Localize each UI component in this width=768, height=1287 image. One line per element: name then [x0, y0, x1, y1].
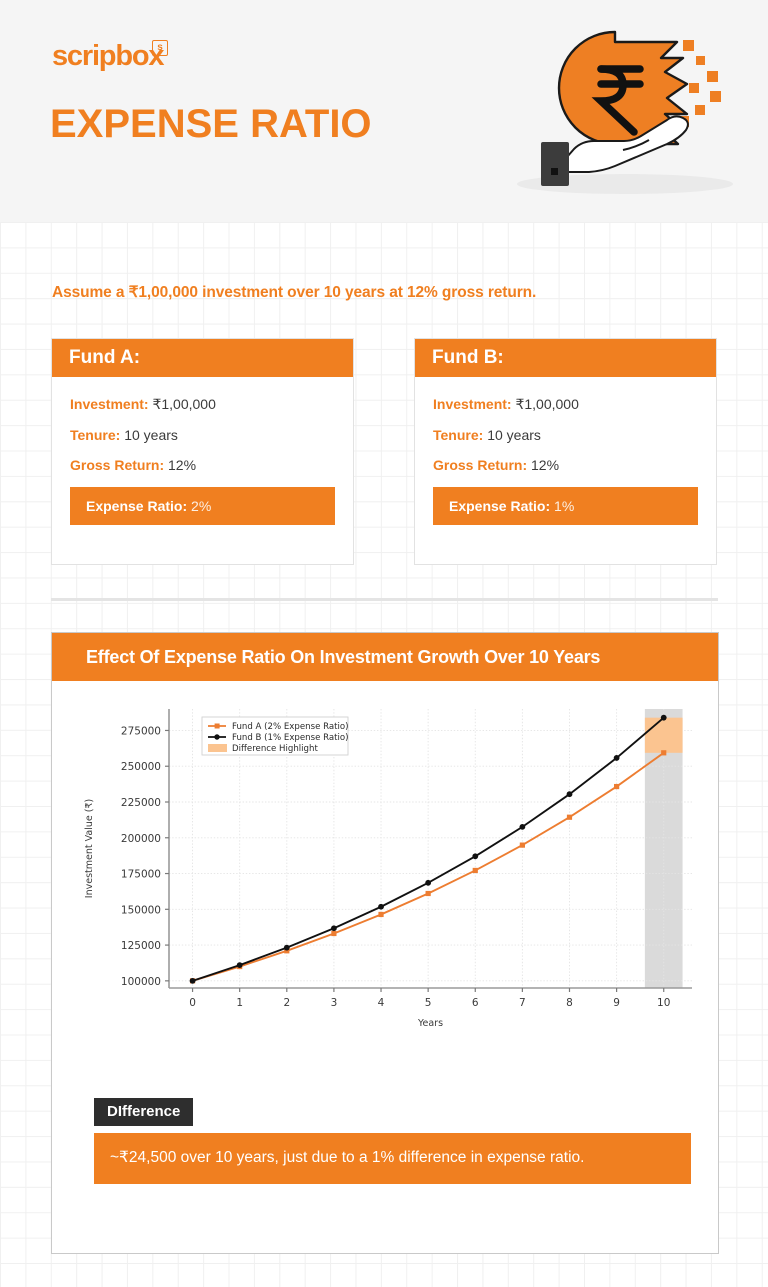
- y-tick-label-4: 200000: [121, 833, 161, 845]
- x-tick-label-10: 10: [657, 997, 670, 1009]
- fund-b-tenure-label: Tenure:: [433, 427, 483, 443]
- fund-a-expense-ratio-value: 2%: [191, 498, 211, 514]
- chart-legend: Fund A (2% Expense Ratio)Fund B (1% Expe…: [202, 717, 349, 755]
- y-tick-label-1: 125000: [121, 940, 161, 952]
- fund-b-gross-return-row: Gross Return: 12%: [433, 457, 698, 473]
- datapoint-fund-a-year-10: [661, 750, 666, 755]
- x-tick-label-0: 0: [189, 997, 196, 1009]
- chart-title: Effect Of Expense Ratio On Investment Gr…: [52, 633, 718, 681]
- x-tick-label-7: 7: [519, 997, 526, 1009]
- x-tick-label-3: 3: [331, 997, 338, 1009]
- datapoint-fund-b-year-0: [190, 978, 196, 984]
- legend-patch-difference: [208, 744, 227, 752]
- difference-text: ~₹24,500 over 10 years, just due to a 1%…: [94, 1133, 691, 1184]
- assumption-text: Assume a ₹1,00,000 investment over 10 ye…: [52, 283, 536, 302]
- fund-a-gross-return-value: 12%: [168, 457, 196, 473]
- fund-b-title: Fund B:: [415, 339, 716, 377]
- x-tick-label-6: 6: [472, 997, 479, 1009]
- legend-marker-0: [215, 724, 220, 729]
- investment-growth-line-chart: 1000001250001500001750002000002250002500…: [52, 681, 720, 1051]
- datapoint-fund-b-year-6: [472, 853, 478, 859]
- fund-b-expense-ratio-label: Expense Ratio:: [449, 498, 550, 514]
- fund-b-gross-return-label: Gross Return:: [433, 457, 527, 473]
- fund-b-card: Fund B: Investment: ₹1,00,000 Tenure: 10…: [414, 338, 717, 565]
- page-header: scripbox s EXPENSE RATIO: [0, 0, 768, 222]
- fund-b-tenure-row: Tenure: 10 years: [433, 427, 698, 443]
- scripbox-logo: scripbox: [52, 40, 163, 73]
- datapoint-fund-b-year-8: [567, 791, 573, 797]
- x-tick-label-1: 1: [236, 997, 243, 1009]
- fund-b-gross-return-value: 12%: [531, 457, 559, 473]
- fund-a-tenure-label: Tenure:: [70, 427, 120, 443]
- y-tick-label-6: 250000: [121, 761, 161, 773]
- datapoint-fund-a-year-6: [473, 868, 478, 873]
- x-tick-label-4: 4: [378, 997, 385, 1009]
- fund-a-card: Fund A: Investment: ₹1,00,000 Tenure: 10…: [51, 338, 354, 565]
- datapoint-fund-a-year-3: [331, 931, 336, 936]
- y-tick-label-7: 275000: [121, 725, 161, 737]
- sleeve-icon: [541, 142, 569, 186]
- fund-b-investment-row: Investment: ₹1,00,000: [433, 396, 698, 413]
- datapoint-fund-b-year-7: [519, 824, 525, 830]
- x-tick-label-8: 8: [566, 997, 573, 1009]
- legend-marker-1: [214, 734, 219, 739]
- cuff-button-icon: [551, 168, 558, 175]
- x-tick-label-5: 5: [425, 997, 432, 1009]
- fund-a-investment-row: Investment: ₹1,00,000: [70, 396, 335, 413]
- page-title: EXPENSE RATIO: [50, 102, 372, 147]
- fund-b-details: Investment: ₹1,00,000 Tenure: 10 years G…: [415, 377, 716, 525]
- difference-badge: DIfference: [94, 1098, 193, 1126]
- fund-a-gross-return-label: Gross Return:: [70, 457, 164, 473]
- datapoint-fund-a-year-8: [567, 815, 572, 820]
- section-divider: [51, 598, 718, 601]
- x-axis-label: Years: [417, 1018, 443, 1029]
- datapoint-fund-b-year-1: [237, 962, 243, 968]
- difference-highlight-band: [645, 718, 683, 753]
- fund-a-tenure-row: Tenure: 10 years: [70, 427, 335, 443]
- fund-b-tenure-value: 10 years: [487, 427, 541, 443]
- scripbox-logo-superscript-icon: s: [152, 40, 168, 56]
- y-tick-label-2: 150000: [121, 904, 161, 916]
- chart-card: Effect Of Expense Ratio On Investment Gr…: [51, 632, 719, 1254]
- chart-plot-area: 1000001250001500001750002000002250002500…: [52, 681, 720, 1051]
- fund-b-expense-ratio-row: Expense Ratio: 1%: [433, 487, 698, 525]
- datapoint-fund-b-year-4: [378, 904, 384, 910]
- datapoint-fund-a-year-5: [426, 891, 431, 896]
- datapoint-fund-a-year-9: [614, 784, 619, 789]
- datapoint-fund-b-year-3: [331, 925, 337, 931]
- datapoint-fund-b-year-9: [614, 755, 620, 761]
- fund-a-investment-value: ₹1,00,000: [152, 396, 215, 412]
- fund-a-expense-ratio-label: Expense Ratio:: [86, 498, 187, 514]
- legend-label-2: Difference Highlight: [232, 744, 318, 754]
- y-tick-label-0: 100000: [121, 976, 161, 988]
- fund-b-investment-value: ₹1,00,000: [515, 396, 578, 412]
- fund-b-expense-ratio-value: 1%: [554, 498, 574, 514]
- y-tick-label-3: 175000: [121, 869, 161, 881]
- y-axis-label: Investment Value (₹): [84, 799, 95, 898]
- fund-a-tenure-value: 10 years: [124, 427, 178, 443]
- datapoint-fund-a-year-7: [520, 843, 525, 848]
- fund-a-details: Investment: ₹1,00,000 Tenure: 10 years G…: [52, 377, 353, 525]
- fund-a-gross-return-row: Gross Return: 12%: [70, 457, 335, 473]
- hero-illustration: [497, 26, 752, 201]
- datapoint-fund-b-year-5: [425, 880, 431, 886]
- y-tick-label-5: 225000: [121, 797, 161, 809]
- fund-a-title: Fund A:: [52, 339, 353, 377]
- datapoint-fund-b-year-2: [284, 945, 290, 951]
- datapoint-fund-b-year-10: [661, 715, 667, 721]
- legend-label-1: Fund B (1% Expense Ratio): [232, 733, 349, 743]
- fund-a-investment-label: Investment:: [70, 396, 149, 412]
- x-tick-label-2: 2: [283, 997, 290, 1009]
- legend-label-0: Fund A (2% Expense Ratio): [232, 722, 349, 732]
- fund-b-investment-label: Investment:: [433, 396, 512, 412]
- datapoint-fund-a-year-4: [378, 912, 383, 917]
- fund-a-expense-ratio-row: Expense Ratio: 2%: [70, 487, 335, 525]
- x-tick-label-9: 9: [613, 997, 620, 1009]
